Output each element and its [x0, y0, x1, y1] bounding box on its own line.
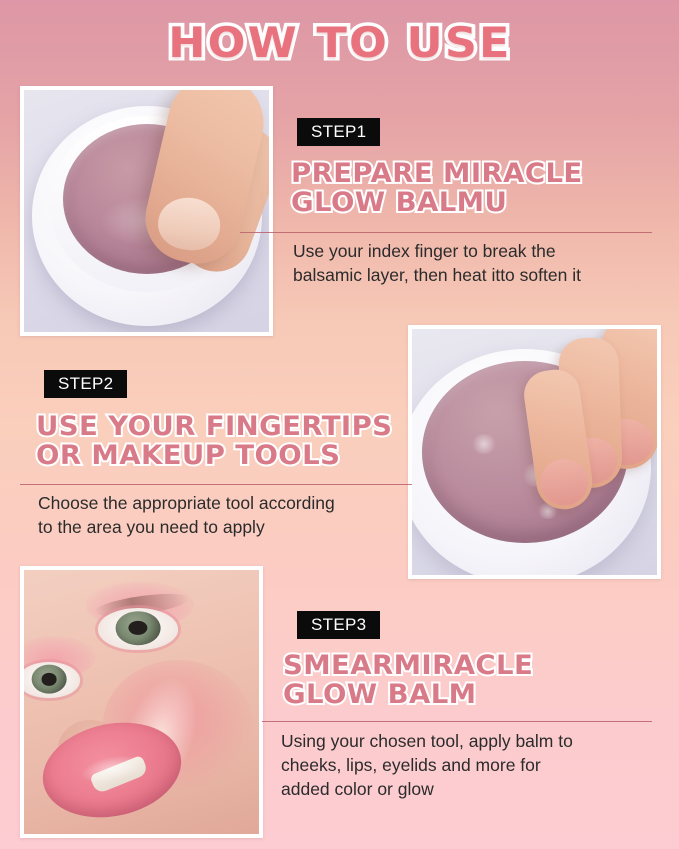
- pupil-icon: [42, 673, 57, 685]
- step-2-heading: USE YOUR FINGERTIPS OR MAKEUP TOOLS: [36, 412, 434, 470]
- step-3-badge: STEP3: [297, 611, 380, 639]
- page-title-wrap: HOW TO USE: [0, 18, 679, 67]
- step-1-heading: PREPARE MIRACLE GLOW BALMU: [291, 159, 668, 217]
- step-2-photo-inner: [412, 329, 657, 575]
- balm-dimple-icon: [471, 434, 497, 454]
- fingertip-icon: [538, 456, 591, 508]
- step-2-badge: STEP2: [44, 370, 127, 398]
- step-2-divider: [20, 484, 412, 485]
- fingernail-icon: [155, 194, 223, 253]
- step-3-heading: SMEARMIRACLE GLOW BALM: [283, 651, 671, 709]
- step-3-body-text: Using your chosen tool, apply balm to ch…: [281, 730, 653, 801]
- eye-icon: [98, 608, 178, 650]
- model-face-scene: [24, 570, 259, 834]
- step-3-photo: [20, 566, 263, 838]
- step-3-photo-inner: [24, 570, 259, 834]
- step-3-divider: [262, 721, 652, 722]
- step-1-photo-inner: [24, 90, 269, 332]
- balm-jar-scene-1: [24, 90, 269, 332]
- step-2-photo: [408, 325, 661, 579]
- step-2-body-text: Choose the appropriate tool according to…: [38, 492, 418, 540]
- step-1-body-text: Use your index finger to break the balsa…: [293, 240, 653, 288]
- teeth-icon: [89, 755, 149, 795]
- how-to-use-infographic: HOW TO USE: [0, 0, 679, 849]
- page-title: HOW TO USE: [168, 18, 511, 67]
- step-1-photo: [20, 86, 273, 336]
- eye-icon: [24, 662, 80, 698]
- step-1-badge: STEP1: [297, 118, 380, 146]
- step-1-divider: [240, 232, 652, 233]
- balm-jar-scene-2: [412, 329, 657, 575]
